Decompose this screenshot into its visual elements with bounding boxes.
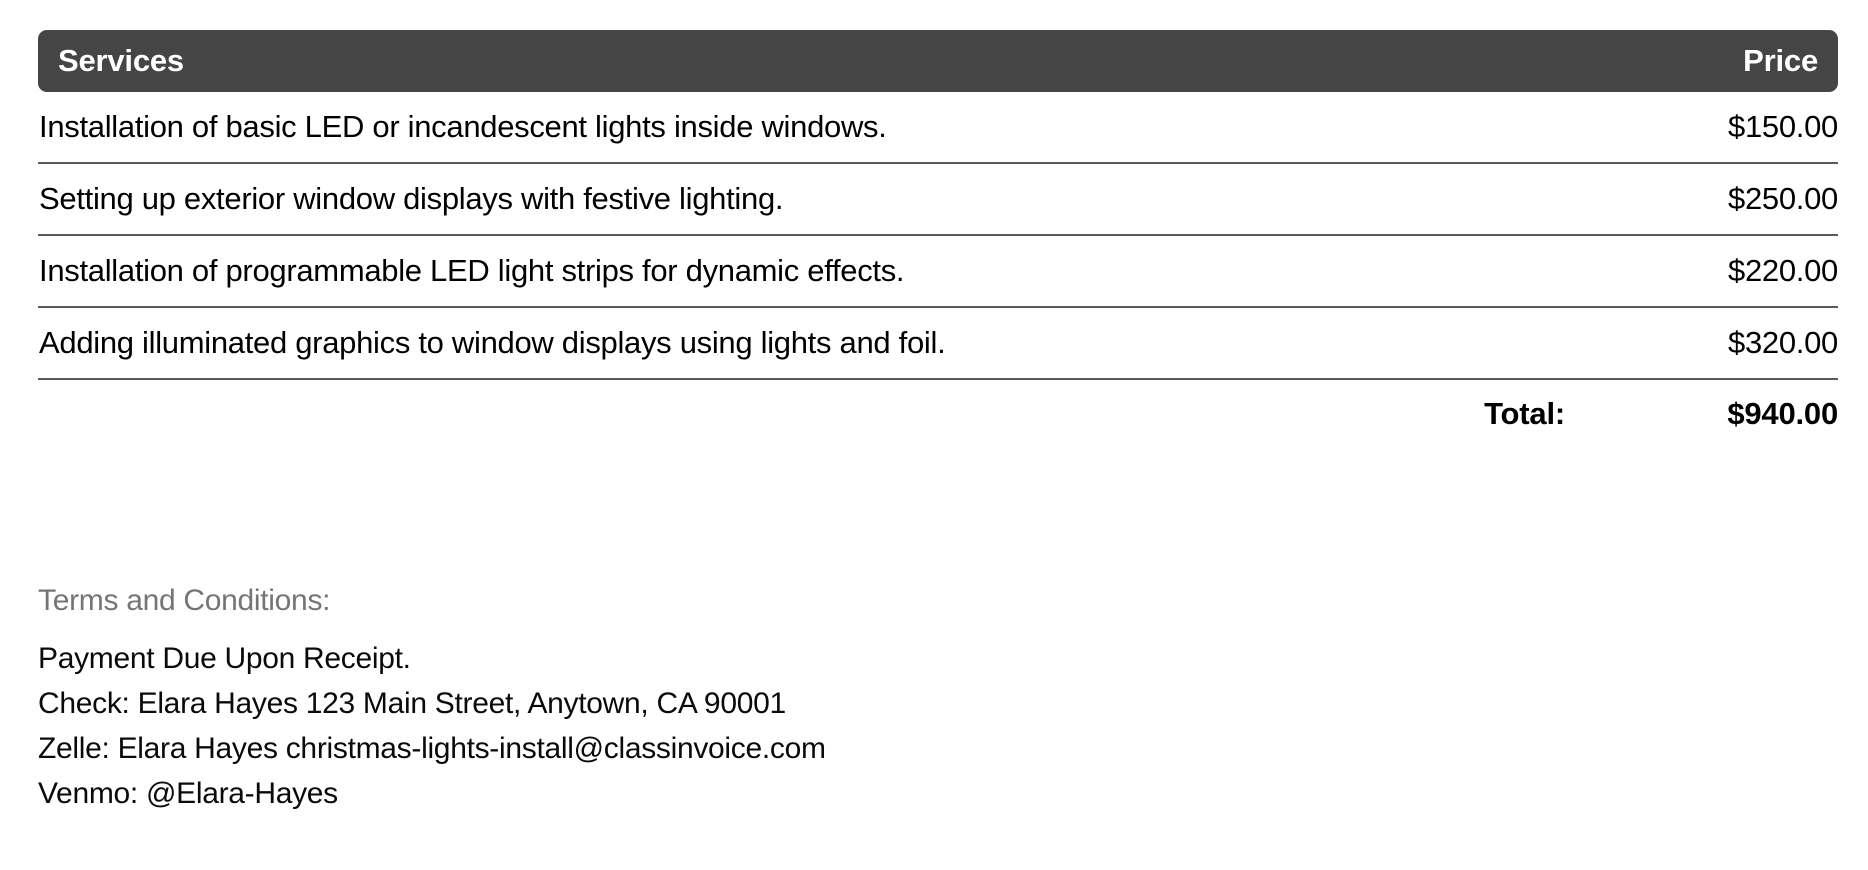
table-header-row: Services Price [38,30,1838,92]
terms-line-zelle: Zelle: Elara Hayes christmas-lights-inst… [38,726,1798,771]
terms-line-payment-due: Payment Due Upon Receipt. [38,636,1798,681]
total-amount: $940.00 [1643,396,1838,432]
terms-line-venmo: Venmo: @Elara-Hayes [38,771,1798,816]
service-description: Installation of programmable LED light s… [38,253,1578,289]
table-total-row: Total: $940.00 [38,380,1838,448]
service-description: Setting up exterior window displays with… [38,181,1578,217]
terms-line-check: Check: Elara Hayes 123 Main Street, Anyt… [38,681,1798,726]
service-price: $150.00 [1578,109,1838,145]
invoice-page: Services Price Installation of basic LED… [0,0,1868,870]
services-price-table: Services Price Installation of basic LED… [38,30,1838,448]
service-description: Adding illuminated graphics to window di… [38,325,1578,361]
table-row: Adding illuminated graphics to window di… [38,308,1838,380]
table-row: Setting up exterior window displays with… [38,164,1838,236]
terms-and-conditions-section: Terms and Conditions: Payment Due Upon R… [38,584,1798,816]
column-header-services: Services [58,43,1558,79]
terms-heading: Terms and Conditions: [38,584,1798,618]
service-price: $320.00 [1578,325,1838,361]
column-header-price: Price [1558,43,1818,79]
table-row: Installation of basic LED or incandescen… [38,92,1838,164]
service-price: $250.00 [1578,181,1838,217]
table-row: Installation of programmable LED light s… [38,236,1838,308]
service-description: Installation of basic LED or incandescen… [38,109,1578,145]
total-label: Total: [1484,396,1643,432]
service-price: $220.00 [1578,253,1838,289]
